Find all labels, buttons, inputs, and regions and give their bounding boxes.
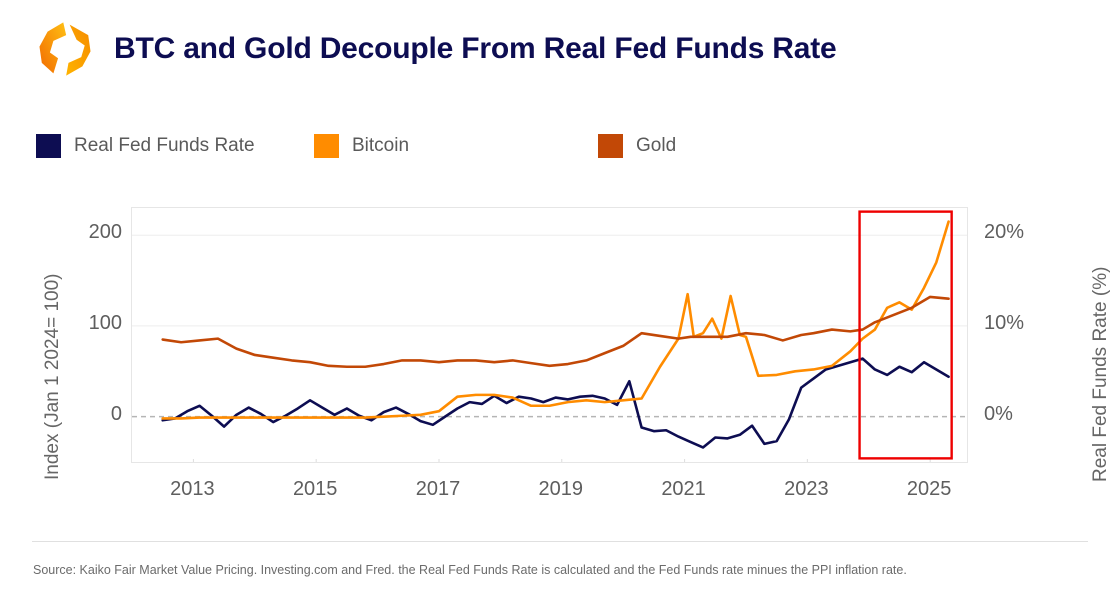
chart-svg [132,208,967,462]
legend-label-bitcoin: Bitcoin [352,135,409,157]
legend-swatch-bitcoin [314,134,339,158]
legend-swatch-gold [598,134,623,158]
highlight-box [860,212,952,459]
footer-divider [32,541,1088,542]
y-axis-left-tick: 0 [58,403,122,426]
chart-legend: Real Fed Funds Rate Bitcoin Gold [36,131,1036,161]
x-axis-tick: 2025 [889,478,969,501]
legend-item-bitcoin[interactable]: Bitcoin [314,131,409,161]
y-axis-right-tick: 20% [984,221,1024,244]
y-axis-left-tick: 100 [58,312,122,335]
x-axis-tick: 2015 [275,478,355,501]
kaiko-logo [34,20,96,78]
x-axis-tick: 2019 [521,478,601,501]
y-axis-left-tick: 200 [58,221,122,244]
x-axis-tick: 2021 [644,478,724,501]
legend-label-real-fed-funds-rate: Real Fed Funds Rate [74,135,255,157]
x-axis-tick: 2023 [766,478,846,501]
y-axis-left-title: Index (Jan 1 2024= 100) [42,273,64,480]
legend-label-gold: Gold [636,135,676,157]
x-axis-tick: 2013 [152,478,232,501]
x-axis-tick: 2017 [398,478,478,501]
plot-area [131,207,968,463]
legend-swatch-real-fed-funds-rate [36,134,61,158]
y-axis-right-title: Real Fed Funds Rate (%) [1090,267,1112,482]
legend-item-real-fed-funds-rate[interactable]: Real Fed Funds Rate [36,131,255,161]
y-axis-right-tick: 10% [984,312,1024,335]
chart-container: Index (Jan 1 2024= 100) Real Fed Funds R… [0,180,1120,520]
legend-item-gold[interactable]: Gold [598,131,676,161]
page-header: BTC and Gold Decouple From Real Fed Fund… [0,0,1120,60]
y-axis-right-tick: 0% [984,403,1013,426]
source-note: Source: Kaiko Fair Market Value Pricing.… [33,563,907,577]
page-title: BTC and Gold Decouple From Real Fed Fund… [114,34,837,64]
